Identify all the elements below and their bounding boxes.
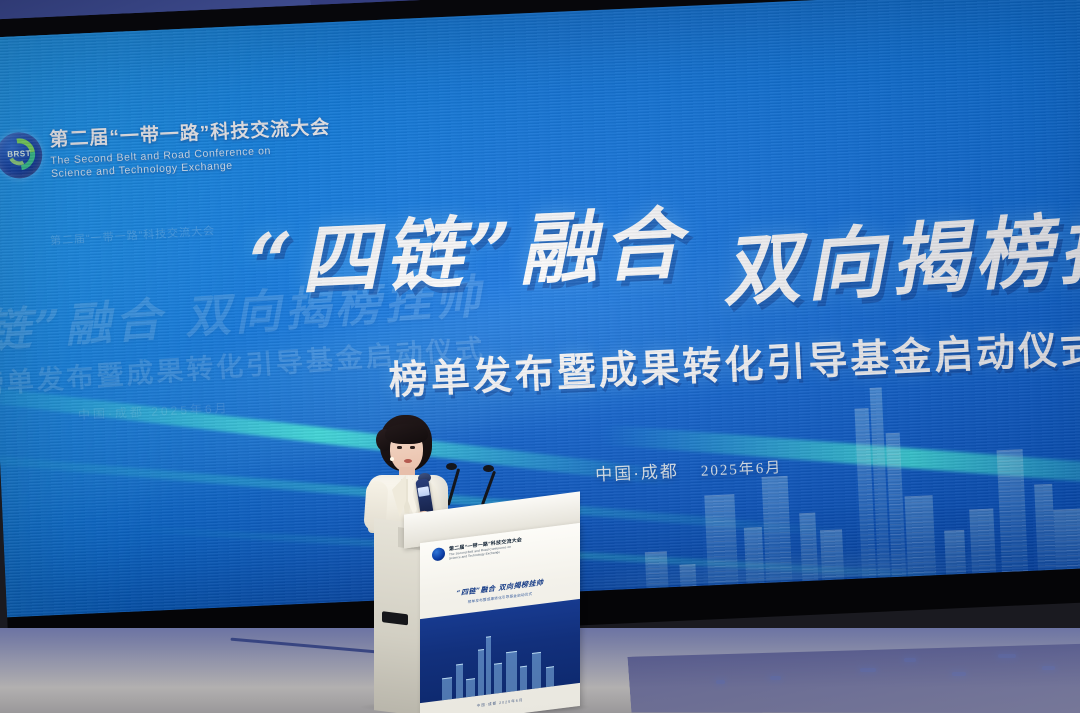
speaker-eye-right <box>410 446 415 449</box>
podium-skyline-band <box>420 599 580 703</box>
podium-front-panel: 第二届“一带一路”科技交流大会 The Second Belt and Road… <box>420 523 580 713</box>
podium-globe-icon <box>432 547 445 562</box>
podium-slot <box>382 611 408 625</box>
speaker-earring <box>390 457 394 461</box>
conference-stage-photo: 第二届“一带一路”科技交流大会 “四链”融合 双向揭榜挂帅 榜单发布暨成果转化引… <box>0 0 1080 713</box>
podium-logo-lockup: 第二届“一带一路”科技交流大会 The Second Belt and Road… <box>432 536 522 563</box>
gooseneck-mic-head-2 <box>483 465 494 472</box>
speaker-hair-front <box>385 424 428 444</box>
speaker-eye-left <box>397 446 402 449</box>
podium-lectern: 第二届“一带一路”科技交流大会 The Second Belt and Road… <box>374 503 582 713</box>
speaker-mouth <box>404 459 412 463</box>
